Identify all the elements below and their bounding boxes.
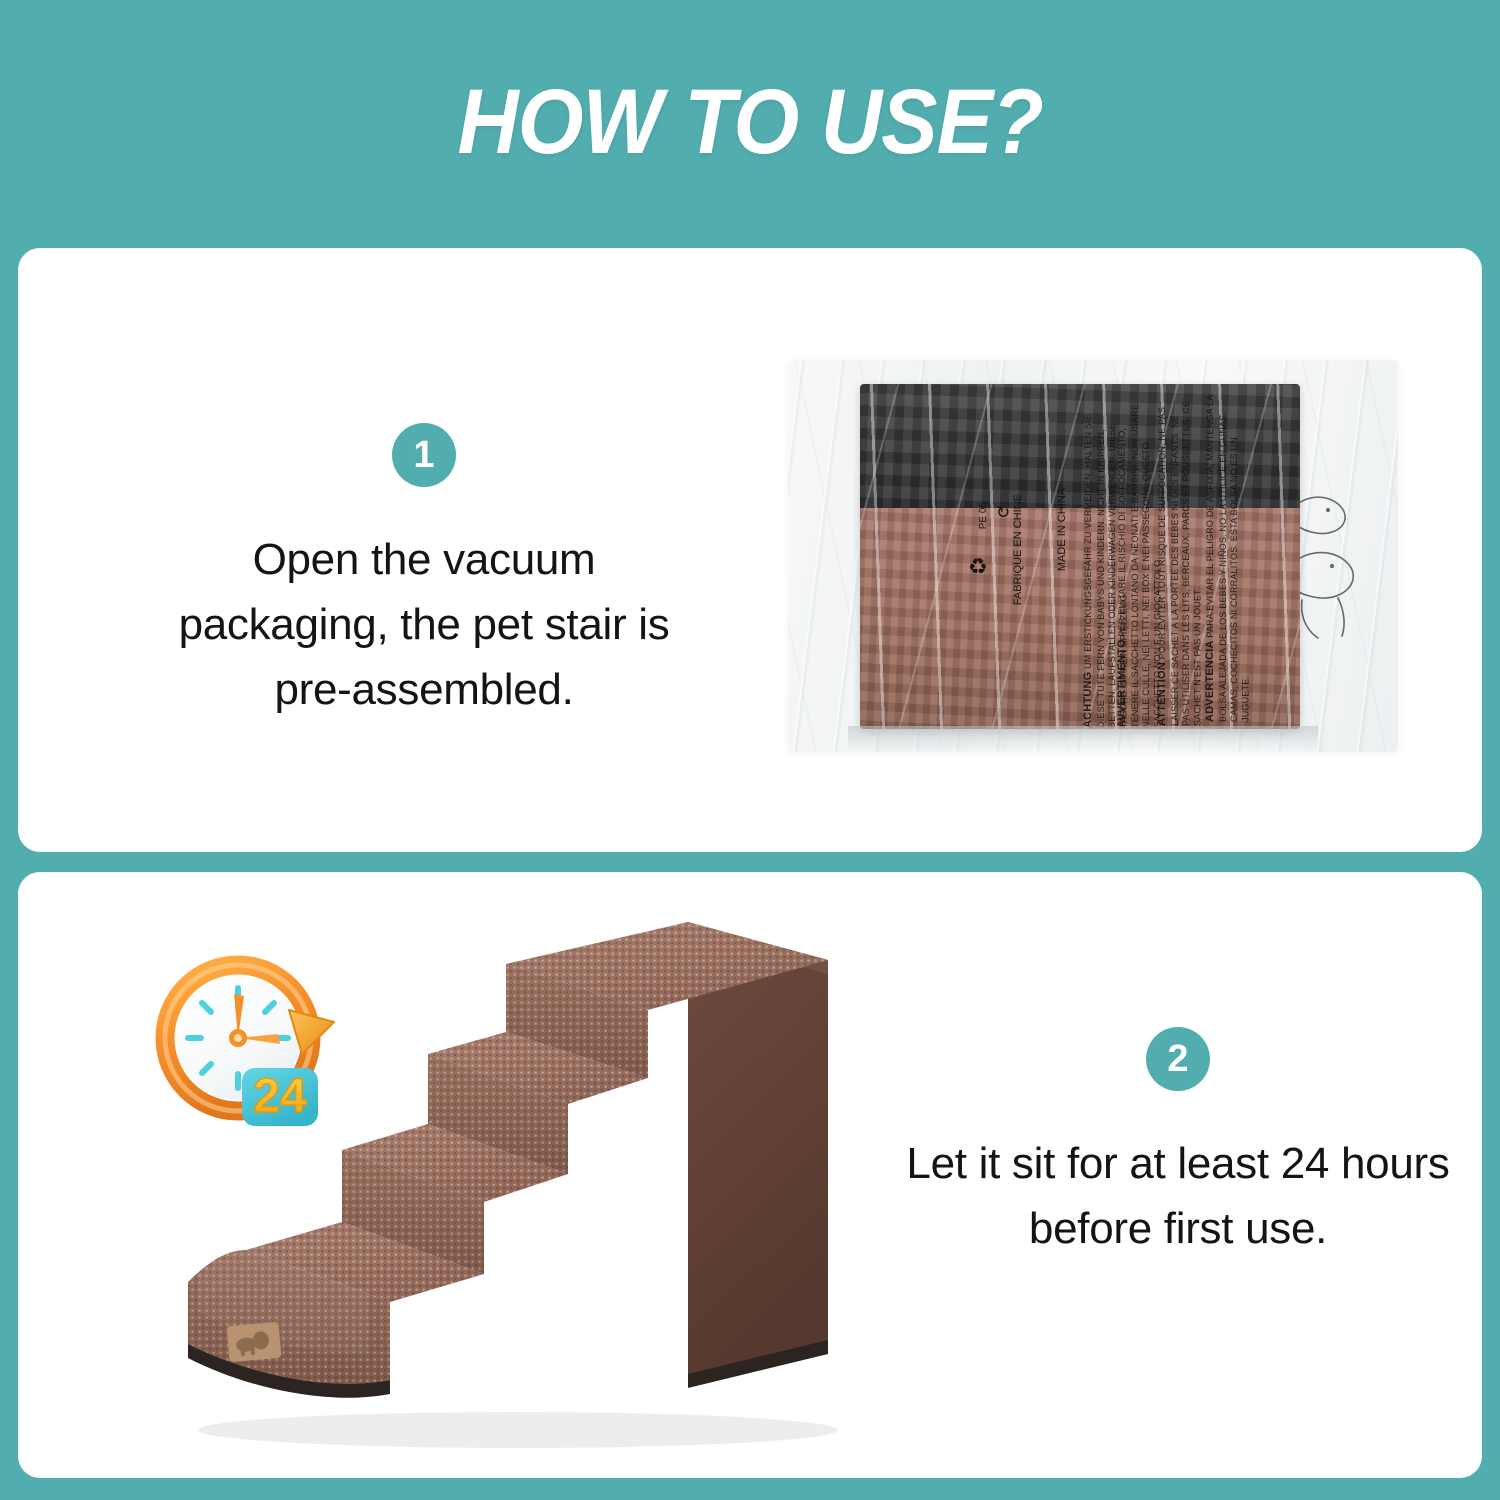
recycle-arrows-icon: ↻ <box>996 504 1010 521</box>
pet-stair-photo <box>128 882 928 1462</box>
warning-column-fr: ATTENTION POUR EVITER TOUT RISQUE DE SUF… <box>1156 396 1204 726</box>
how-to-use-infographic: HOW TO USE? 1 Open the vacuum packaging,… <box>0 0 1500 1500</box>
step-card-2: 24 <box>18 872 1482 1478</box>
page-header: HOW TO USE? <box>0 76 1500 170</box>
page-title: HOW TO USE? <box>457 76 1043 170</box>
pet-stair-graphic <box>128 882 928 1462</box>
origin-fr-label: FABRIQUE EN CHINE <box>1012 494 1024 605</box>
resin-code-label: PE 05 <box>978 502 989 529</box>
warning-title-de: ACHTUNG <box>1082 672 1094 728</box>
step-2-number-badge: 2 <box>1146 1027 1210 1091</box>
film-bottom-fold <box>848 726 1318 752</box>
vacuum-package-photo: ♻ ↻ PE 05 FABRIQUE EN CHINE MADE IN CHIN… <box>778 356 1408 756</box>
step-1-number-badge: 1 <box>392 423 456 487</box>
pet-brand-logo-patch <box>227 1322 282 1362</box>
compressed-foam-block: ♻ ↻ PE 05 FABRIQUE EN CHINE MADE IN CHIN… <box>860 384 1300 729</box>
plastic-film: ♻ ↻ PE 05 FABRIQUE EN CHINE MADE IN CHIN… <box>788 360 1398 752</box>
warning-title-fr: ATTENTION <box>1156 662 1168 726</box>
step-card-1: 1 Open the vacuum packaging, the pet sta… <box>18 248 1482 852</box>
recycle-icon: ♻ <box>968 556 988 578</box>
origin-en-label: MADE IN CHINA <box>1056 488 1068 571</box>
step-2-instruction: Let it sit for at least 24 hours before … <box>898 1131 1458 1261</box>
step-1-text-block: 1 Open the vacuum packaging, the pet sta… <box>144 423 704 722</box>
step-2-text-block: 2 Let it sit for at least 24 hours befor… <box>898 1027 1458 1261</box>
step-1-instruction: Open the vacuum packaging, the pet stair… <box>144 527 704 722</box>
warning-column-es: ADVERTENCIA PARA EVITAR EL PELIGRO DE AS… <box>1204 392 1252 722</box>
warning-title-es: ADVERTENCIA <box>1204 640 1216 722</box>
warning-title-it: AVVERTIMENTO <box>1116 639 1128 728</box>
